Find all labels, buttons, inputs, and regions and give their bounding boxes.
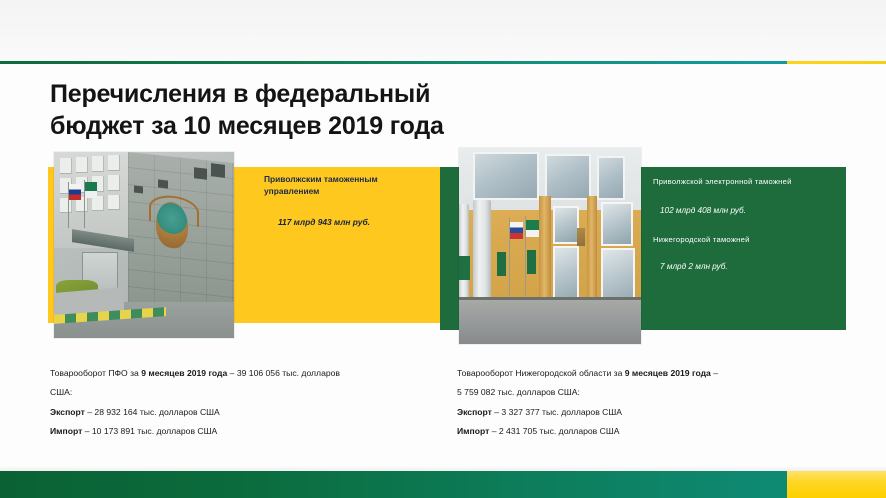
stats-nn-line1-a: Товарооборот Нижегородской области за [457,368,625,378]
photo-right-column [473,200,491,312]
photo-left-russian-flag [69,184,81,200]
photo-right-green-banner [527,250,536,274]
stats-pfo-line1-c: – 39 106 056 тыс. долларов [227,368,340,378]
panel-yellow-value: 117 млрд 943 млн руб. [278,217,370,227]
stats-nn-import-value: – 2 431 705 тыс. долларов США [489,426,619,436]
stats-pfo-line-2: США: [50,383,410,402]
photo-right-glazing [597,156,625,200]
photo-left-window [108,195,120,210]
photo-left-window [60,198,72,213]
top-rule-green [0,61,787,64]
photo-right-glazing [545,154,591,200]
photo-left-window [60,158,72,174]
stats-pfo-line1-b: 9 месяцев 2019 года [141,368,227,378]
stats-block-pfo: Товарооборот ПФО за 9 месяцев 2019 года … [50,364,410,441]
panel-yellow-heading: Приволжским таможенным управлением [264,173,424,197]
photo-right-customs-flag [526,220,539,237]
stats-nn-export-value: – 3 327 377 тыс. долларов США [492,407,622,417]
slide-canvas: Перечисления в федеральный бюджет за 10 … [0,0,886,498]
photo-left-wall-lamp [158,179,168,188]
photo-left-window [108,155,120,171]
photo-right-russian-flag [510,222,523,239]
photo-right-window [601,202,633,246]
photo-right-green-banner [459,256,470,280]
stats-pfo-import-label: Импорт [50,426,82,436]
photo-left-wall-lamp [134,185,143,193]
slide-header-band [0,0,886,61]
photo-right-glazing [473,152,539,200]
panel-green-value-1: 102 млрд 408 млн руб. [660,206,746,215]
photo-left-customs-flag [85,182,97,198]
photo-left-window [108,175,120,191]
photo-left-window [76,157,88,173]
stats-pfo-import-value: – 10 173 891 тыс. долларов США [82,426,217,436]
stats-nn-line-2: 5 759 082 тыс. долларов США: [457,383,827,402]
stats-nn-export: Экспорт – 3 327 377 тыс. долларов США [457,403,827,422]
photo-right-green-banner [497,252,506,276]
page-title-line-2: бюджет за 10 месяцев 2019 года [50,110,570,142]
panel-green-heading-1: Приволжской электронной таможней [653,177,792,186]
photo-right-recess [577,228,585,246]
photo-left-window [92,196,104,211]
top-rule-yellow [787,61,886,64]
photo-right-pilaster [539,196,551,306]
stats-nn-export-label: Экспорт [457,407,492,417]
stats-pfo-import: Импорт – 10 173 891 тыс. долларов США [50,422,410,441]
photo-right-pavement [459,300,641,344]
stats-pfo-export-label: Экспорт [50,407,85,417]
panel-green-value-2: 7 млрд 2 млн руб. [660,262,728,271]
photo-right-nizhny-novgorod-customs [459,148,641,344]
stats-nn-line1-c: – [711,368,718,378]
photo-left-customs-administration [54,152,234,338]
panel-green-heading-2: Нижегородской таможней [653,235,750,244]
stats-pfo-line-1: Товарооборот ПФО за 9 месяцев 2019 года … [50,364,410,383]
photo-left-window [92,156,104,172]
stats-nn-line-1: Товарооборот Нижегородской области за 9 … [457,364,827,383]
bottom-rule-green [0,471,787,498]
stats-block-nizhny: Товарооборот Нижегородской области за 9 … [457,364,827,441]
stats-nn-import: Импорт – 2 431 705 тыс. долларов США [457,422,827,441]
stats-pfo-export-value: – 28 932 164 тыс. долларов США [85,407,220,417]
photo-right-pilaster [587,196,597,308]
page-title-line-1: Перечисления в федеральный [50,78,570,110]
photo-right-window [553,206,579,244]
photo-left-wall-lamp [211,163,225,178]
stats-nn-import-label: Импорт [457,426,489,436]
bottom-rule-yellow [787,471,886,498]
page-title: Перечисления в федеральный бюджет за 10 … [50,78,570,142]
stats-nn-line1-b: 9 месяцев 2019 года [625,368,711,378]
stats-pfo-export: Экспорт – 28 932 164 тыс. долларов США [50,403,410,422]
stats-pfo-line1-a: Товарооборот ПФО за [50,368,141,378]
photo-left-wall-lamp [194,167,207,180]
